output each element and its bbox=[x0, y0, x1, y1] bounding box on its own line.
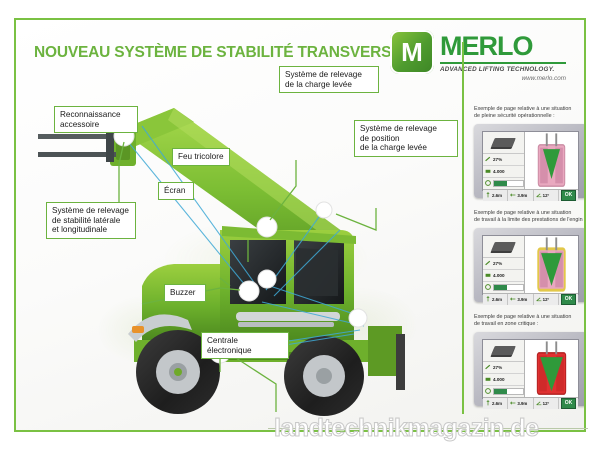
column-divider bbox=[462, 42, 464, 414]
angle-cell: 12° bbox=[534, 398, 559, 409]
load-weight-value: 4.000 bbox=[493, 273, 505, 278]
poster-root: NOUVEAU SYSTÈME DE STABILITÉ TRANSVERSAL… bbox=[0, 0, 600, 450]
panel-zone-critique: Exemple de page relative à une situation… bbox=[474, 314, 586, 406]
height-value: 2.6m bbox=[492, 297, 502, 302]
display-screen: 27% 4.000 bbox=[482, 235, 579, 295]
front-wheel bbox=[284, 336, 364, 416]
angle-icon bbox=[536, 400, 542, 406]
weight-icon bbox=[485, 168, 491, 174]
stability-svg bbox=[525, 236, 578, 293]
gauge-icon bbox=[485, 388, 491, 394]
panel-caption: Exemple de page relative à une situation… bbox=[474, 210, 586, 225]
load-weight-row: 4.000 bbox=[483, 166, 524, 178]
display-screen: 27% 4.000 bbox=[482, 339, 579, 399]
load-progress-bar bbox=[493, 388, 524, 395]
merlo-mark-letter: M bbox=[401, 39, 423, 65]
merlo-tagline: ADVANCED LIFTING TECHNOLOGY. bbox=[440, 66, 566, 73]
load-weight-row: 4.000 bbox=[483, 374, 524, 386]
load-weight-value: 4.000 bbox=[493, 169, 505, 174]
load-bar-row bbox=[483, 282, 524, 293]
status-badge-label: OK bbox=[565, 193, 573, 198]
callout-feu-tricolore[interactable]: Feu tricolore bbox=[172, 148, 230, 166]
height-cell: 2.6m bbox=[483, 398, 508, 409]
panel-caption: Exemple de page relative à une situation… bbox=[474, 106, 586, 121]
load-weight-value: 4.000 bbox=[493, 377, 505, 382]
height-cell: 2.6m bbox=[483, 294, 508, 305]
gauge-icon bbox=[485, 284, 491, 290]
panel-limite-prestations: Exemple de page relative à une situation… bbox=[474, 210, 586, 302]
reach-cell: 3.9m bbox=[508, 398, 533, 409]
load-percent-value: 27% bbox=[493, 157, 502, 162]
page-title: NOUVEAU SYSTÈME DE STABILITÉ TRANSVERSAL… bbox=[34, 44, 422, 62]
boom-angle-icon bbox=[485, 156, 491, 162]
poster-frame: NOUVEAU SYSTÈME DE STABILITÉ TRANSVERSAL… bbox=[14, 18, 586, 432]
load-weight-row: 4.000 bbox=[483, 270, 524, 282]
load-progress-bar bbox=[493, 180, 524, 187]
status-badge: OK bbox=[561, 294, 576, 305]
reach-icon bbox=[510, 400, 516, 406]
angle-value: 12° bbox=[543, 297, 550, 302]
load-bar-row bbox=[483, 386, 524, 397]
panel-caption: Exemple de page relative à une situation… bbox=[474, 314, 586, 329]
status-badge-label: OK bbox=[565, 401, 573, 406]
stability-diagram bbox=[525, 340, 578, 397]
callout-systeme-relevage-charge-levee[interactable]: Système de relevage de la charge levée bbox=[279, 66, 379, 93]
angle-icon bbox=[536, 296, 542, 302]
stability-diagram bbox=[525, 236, 578, 293]
load-icon bbox=[483, 132, 524, 154]
load-percent-row: 27% bbox=[483, 258, 524, 270]
status-badge: OK bbox=[561, 398, 576, 409]
display-bezel: 27% 4.000 bbox=[474, 124, 586, 198]
callout-centrale-electronique[interactable]: Centrale électronique bbox=[201, 332, 289, 359]
reach-cell: 3.9m bbox=[508, 190, 533, 201]
height-icon bbox=[485, 400, 491, 406]
merlo-brand-text: MERLO bbox=[440, 34, 566, 60]
logo-rule bbox=[440, 62, 566, 64]
load-bar-row bbox=[483, 178, 524, 189]
callout-systeme-relevage-position-charge[interactable]: Système de relevage de position de la ch… bbox=[354, 120, 458, 157]
reach-icon bbox=[510, 296, 516, 302]
stability-diagram bbox=[525, 132, 578, 189]
load-percent-row: 27% bbox=[483, 362, 524, 374]
angle-icon bbox=[536, 192, 542, 198]
boom-angle-icon bbox=[485, 364, 491, 370]
boom-angle-icon bbox=[485, 260, 491, 266]
display-bezel: 27% 4.000 bbox=[474, 332, 586, 406]
merlo-url: www.merlo.com bbox=[440, 75, 566, 82]
reach-value: 3.9m bbox=[517, 297, 527, 302]
stability-svg bbox=[525, 340, 578, 397]
angle-value: 12° bbox=[543, 193, 550, 198]
reach-cell: 3.9m bbox=[508, 294, 533, 305]
callout-systeme-stabilite[interactable]: Système de relevage de stabilité latéral… bbox=[46, 202, 136, 239]
height-value: 2.6m bbox=[492, 193, 502, 198]
reach-value: 3.9m bbox=[517, 193, 527, 198]
callout-buzzer[interactable]: Buzzer bbox=[164, 284, 206, 302]
gauge-icon bbox=[485, 180, 491, 186]
angle-cell: 12° bbox=[534, 190, 559, 201]
angle-value: 12° bbox=[543, 401, 550, 406]
weight-icon bbox=[485, 272, 491, 278]
stability-svg bbox=[525, 132, 578, 189]
merlo-mark-icon: M bbox=[390, 30, 434, 74]
load-progress-bar bbox=[493, 284, 524, 291]
status-badge: OK bbox=[561, 190, 576, 201]
callout-ecran[interactable]: Écran bbox=[158, 182, 194, 200]
merlo-logo: M MERLO ADVANCED LIFTING TECHNOLOGY. www… bbox=[390, 30, 568, 92]
height-value: 2.6m bbox=[492, 401, 502, 406]
load-percent-value: 27% bbox=[493, 261, 502, 266]
load-icon bbox=[483, 340, 524, 362]
status-badge-label: OK bbox=[565, 297, 573, 302]
height-cell: 2.6m bbox=[483, 190, 508, 201]
load-percent-row: 27% bbox=[483, 154, 524, 166]
panel-pleine-securite: Exemple de page relative à une situation… bbox=[474, 106, 586, 198]
load-percent-value: 27% bbox=[493, 365, 502, 370]
callout-reconnaissance-accessoire[interactable]: Reconnaissance accessoire bbox=[54, 106, 138, 133]
angle-cell: 12° bbox=[534, 294, 559, 305]
reach-icon bbox=[510, 192, 516, 198]
reach-value: 3.9m bbox=[517, 401, 527, 406]
watermark: landtechnikmagazin.de bbox=[274, 414, 539, 443]
weight-icon bbox=[485, 376, 491, 382]
height-icon bbox=[485, 296, 491, 302]
height-icon bbox=[485, 192, 491, 198]
display-bezel: 27% 4.000 bbox=[474, 228, 586, 302]
load-icon bbox=[483, 236, 524, 258]
display-screen: 27% 4.000 bbox=[482, 131, 579, 191]
